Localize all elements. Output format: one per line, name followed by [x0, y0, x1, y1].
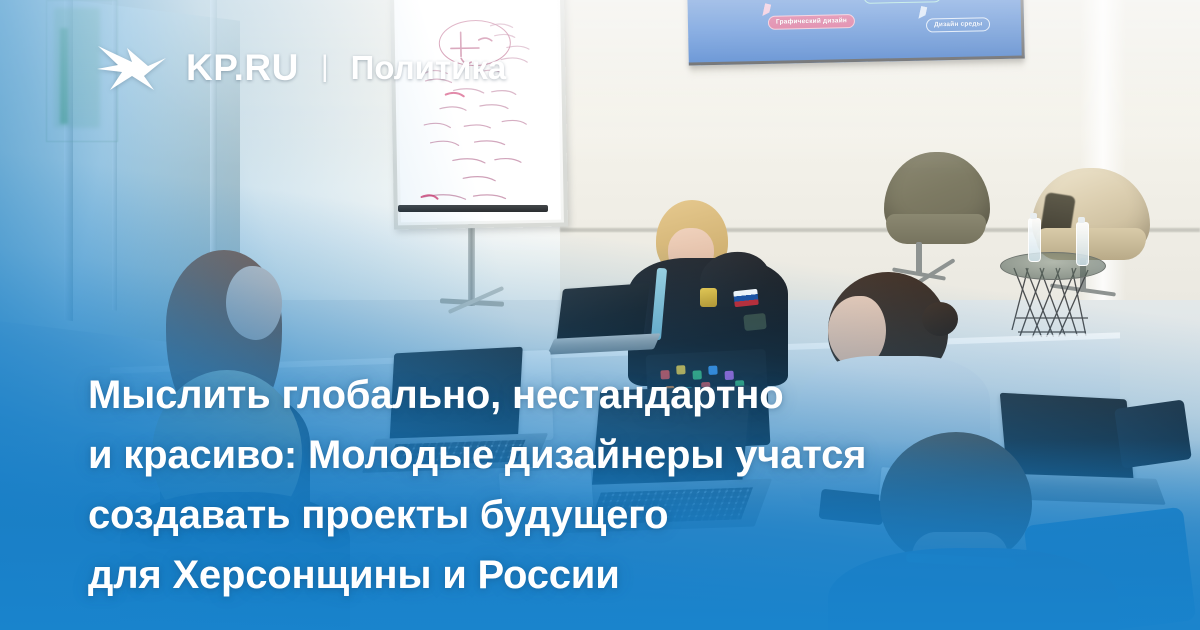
- brand-name[interactable]: KP.RU: [186, 49, 299, 86]
- article-headline: Мыслить глобально, нестандартно и красив…: [88, 365, 1098, 605]
- kp-swallow-bird-logo-icon[interactable]: [96, 36, 170, 98]
- header-section-label[interactable]: Политика: [351, 51, 507, 84]
- header-separator: |: [321, 52, 329, 82]
- social-card-canvas: Графический дизайн Цифровой дизайн Дизай…: [0, 0, 1200, 630]
- site-header: KP.RU | Политика: [96, 36, 506, 98]
